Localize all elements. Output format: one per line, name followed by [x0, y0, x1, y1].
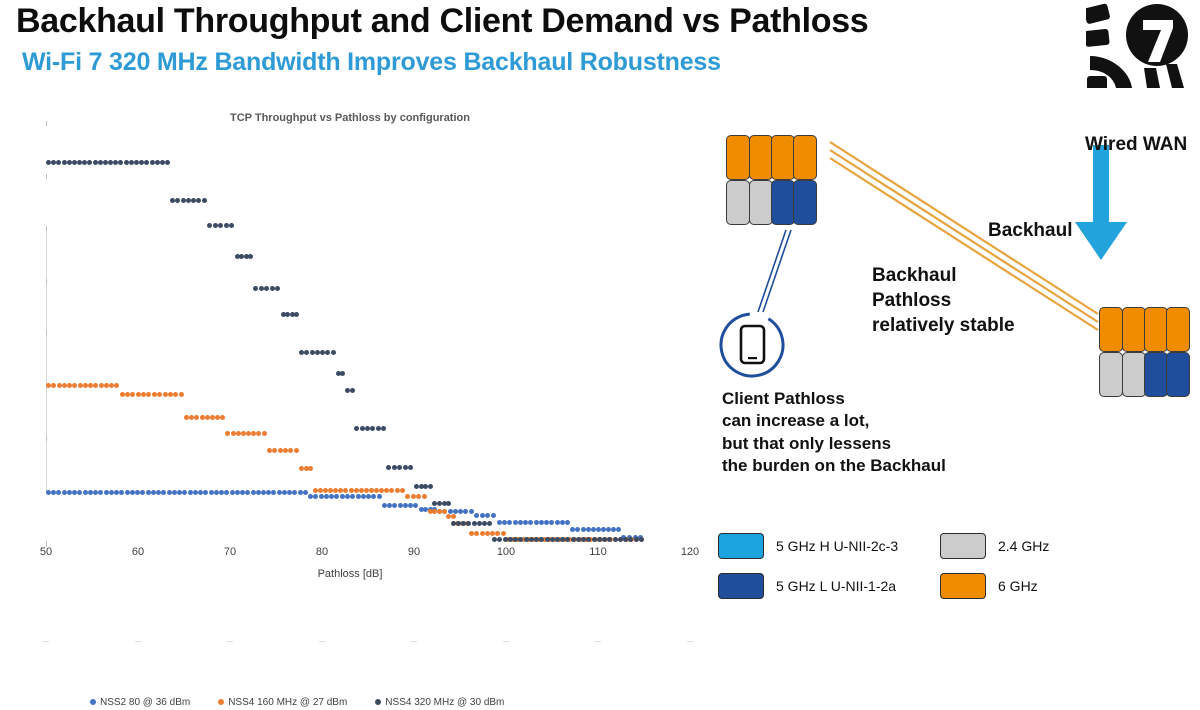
chart-data-point [240, 490, 245, 495]
chart-data-point [172, 490, 177, 495]
chart-data-point [177, 490, 182, 495]
chart-data-point [256, 431, 261, 436]
chart-data-point [141, 392, 146, 397]
chart-data-point [278, 448, 283, 453]
chart-data-point [156, 490, 161, 495]
chart-data-point [472, 521, 477, 526]
band-legend-swatch [940, 533, 986, 559]
band-legend-label: 5 GHz H U-NII-2c-3 [776, 538, 898, 554]
chart-data-point [56, 160, 61, 165]
chart-data-point [490, 531, 495, 536]
chart-data-point [340, 494, 345, 499]
chart-data-point [377, 494, 382, 499]
chart-data-point [480, 513, 485, 518]
chart-data-point [104, 490, 109, 495]
chart-data-point [446, 501, 451, 506]
chart-data-point [267, 448, 272, 453]
chart-data-point [392, 465, 397, 470]
chart-data-point [392, 503, 397, 508]
chart-data-point [72, 383, 77, 388]
router-band-cell [793, 135, 817, 180]
chart-data-point [292, 490, 297, 495]
chart-data-point [528, 520, 533, 525]
chart-data-point [371, 494, 376, 499]
chart-x-tick: 80 [302, 546, 342, 558]
chart-x-tick: 100 [486, 546, 526, 558]
page-header: Backhaul Throughput and Client Demand vs… [0, 0, 1200, 96]
throughput-chart: TCP Throughput vs Pathloss by configurat… [0, 100, 700, 608]
chart-data-point [93, 383, 98, 388]
router-band-cell [771, 180, 795, 225]
chart-data-point [194, 415, 199, 420]
chart-x-tick-mark [227, 641, 233, 642]
chart-x-axis-label: Pathloss [dB] [0, 568, 700, 580]
router-band-cell [749, 135, 773, 180]
router-row [727, 135, 817, 180]
band-legend: 5 GHz H U-NII-2c-32.4 GHz5 GHz L U-NII-1… [718, 533, 1188, 605]
chart-data-point [601, 527, 606, 532]
chart-data-point [308, 494, 313, 499]
chart-data-point [591, 527, 596, 532]
chart-data-point [469, 531, 474, 536]
chart-data-point [109, 490, 114, 495]
chart-data-point [343, 488, 348, 493]
chart-data-point [270, 286, 275, 291]
chart-data-point [218, 223, 223, 228]
chart-data-point [549, 520, 554, 525]
chart-data-point [565, 520, 570, 525]
chart-data-point [168, 392, 173, 397]
chart-data-point [398, 503, 403, 508]
router-band-cell [1122, 307, 1146, 352]
chart-data-point [497, 537, 502, 542]
chart-data-point [62, 383, 67, 388]
label-backhaul-pathloss: Backhaul Pathloss relatively stable [872, 263, 1015, 338]
chart-x-tick: 60 [118, 546, 158, 558]
chart-legend-dot-icon [90, 699, 96, 705]
chart-data-point [130, 490, 135, 495]
chart-data-point [200, 415, 205, 420]
router-band-cell [726, 135, 750, 180]
chart-data-point [283, 448, 288, 453]
band-legend-label: 6 GHz [998, 578, 1038, 594]
chart-data-point [451, 514, 456, 519]
chart-data-point [294, 448, 299, 453]
chart-data-point [165, 160, 170, 165]
chart-data-point [229, 223, 234, 228]
chart-legend-item[interactable]: NSS4 320 MHz @ 30 dBm [375, 697, 504, 708]
chart-data-point [62, 490, 67, 495]
chart-data-point [518, 520, 523, 525]
chart-data-point [513, 520, 518, 525]
router-left [727, 135, 817, 225]
chart-data-point [350, 388, 355, 393]
page-title: Backhaul Throughput and Client Demand vs… [16, 2, 868, 41]
chart-data-point [67, 383, 72, 388]
chart-legend-label: NSS4 320 MHz @ 30 dBm [385, 697, 504, 708]
chart-data-point [98, 490, 103, 495]
chart-x-tick: 120 [670, 546, 710, 558]
chart-data-point [109, 383, 114, 388]
chart-data-point [231, 431, 236, 436]
chart-data-point [408, 465, 413, 470]
router-band-cell [793, 180, 817, 225]
chart-data-point [209, 490, 214, 495]
router-band-cell [1166, 352, 1190, 397]
chart-data-point [360, 426, 365, 431]
chart-data-point [366, 494, 371, 499]
chart-data-point [230, 490, 235, 495]
chart-data-point [56, 490, 61, 495]
chart-data-point [575, 527, 580, 532]
chart-data-point [389, 488, 394, 493]
router-band-cell [726, 180, 750, 225]
router-band-cell [771, 135, 795, 180]
chart-data-point [474, 531, 479, 536]
chart-data-point [634, 537, 639, 542]
mobile-phone-icon [741, 326, 764, 363]
chart-data-point [320, 350, 325, 355]
band-legend-label: 2.4 GHz [998, 538, 1049, 554]
chart-data-point [487, 521, 492, 526]
chart-data-point [463, 509, 468, 514]
router-row [1100, 352, 1190, 397]
router-band-cell [1144, 307, 1168, 352]
chart-data-point [501, 531, 506, 536]
chart-data-point [93, 490, 98, 495]
chart-data-point [264, 286, 269, 291]
chart-legend-dot-icon [218, 699, 224, 705]
chart-data-point [253, 286, 258, 291]
chart-data-point [324, 494, 329, 499]
chart-data-point [495, 531, 500, 536]
chart-data-point [224, 490, 229, 495]
chart-data-point [179, 392, 184, 397]
chart-data-point [356, 494, 361, 499]
chart-data-point [136, 392, 141, 397]
chart-data-point [271, 490, 276, 495]
network-diagram: Wired WAN Backhaul Backhaul Pathloss rel… [690, 100, 1200, 530]
router-band-cell [1122, 352, 1146, 397]
chart-data-point [354, 488, 359, 493]
chart-data-point [466, 521, 471, 526]
chart-data-point [277, 490, 282, 495]
chart-data-point [157, 392, 162, 397]
down-arrow-icon [1075, 145, 1127, 260]
chart-x-tick: 50 [26, 546, 66, 558]
chart-data-point [395, 488, 400, 493]
chart-data-point [236, 431, 241, 436]
router-right [1100, 307, 1190, 397]
chart-x-tick: 110 [578, 546, 618, 558]
chart-data-point [125, 490, 130, 495]
chart-data-point [124, 160, 129, 165]
chart-data-point [88, 490, 93, 495]
chart-data-point [299, 350, 304, 355]
band-legend-item[interactable]: 6 GHz [940, 573, 1038, 599]
chart-data-point [186, 198, 191, 203]
chart-data-point [57, 383, 62, 388]
page-subtitle: Wi-Fi 7 320 MHz Bandwidth Improves Backh… [22, 48, 721, 77]
chart-data-point [99, 383, 104, 388]
chart-data-point [288, 448, 293, 453]
chart-data-point [315, 350, 320, 355]
chart-data-point [161, 490, 166, 495]
chart-data-point [203, 490, 208, 495]
chart-data-point [155, 160, 160, 165]
chart-data-point [51, 383, 56, 388]
chart-data-point [613, 537, 618, 542]
chart-data-point [188, 490, 193, 495]
chart-data-point [413, 503, 418, 508]
chart-data-point [405, 494, 410, 499]
chart-data-point [397, 465, 402, 470]
label-client-pathloss: Client Pathloss can increase a lot, but … [722, 388, 946, 478]
chart-data-point [275, 286, 280, 291]
chart-data-point [167, 490, 172, 495]
chart-data-point [408, 503, 413, 508]
chart-data-point [262, 431, 267, 436]
chart-data-point [125, 392, 130, 397]
band-legend-item[interactable]: 2.4 GHz [940, 533, 1049, 559]
chart-data-point [458, 509, 463, 514]
chart-data-point [365, 426, 370, 431]
chart-data-point [555, 520, 560, 525]
chart-data-point [256, 490, 261, 495]
chart-data-point [88, 383, 93, 388]
chart-data-point [259, 286, 264, 291]
chart-data-point [196, 198, 201, 203]
router-row [1100, 307, 1190, 352]
chart-data-point [442, 509, 447, 514]
chart-data-point [303, 490, 308, 495]
chart-data-point [135, 490, 140, 495]
chart-data-point [266, 490, 271, 495]
chart-data-point [524, 537, 529, 542]
chart-data-point [120, 392, 125, 397]
chart-data-point [331, 350, 336, 355]
chart-data-point [77, 490, 82, 495]
chart-x-tick-mark [411, 641, 417, 642]
chart-data-point [130, 392, 135, 397]
chart-data-point [507, 520, 512, 525]
chart-data-point [175, 198, 180, 203]
chart-data-point [146, 392, 151, 397]
chart-data-point [400, 488, 405, 493]
chart-x-tick: 70 [210, 546, 250, 558]
chart-data-point [354, 426, 359, 431]
chart-data-point [586, 527, 591, 532]
label-wired-wan: Wired WAN [1085, 132, 1187, 157]
chart-data-point [214, 490, 219, 495]
chart-data-point [325, 350, 330, 355]
chart-data-point [191, 198, 196, 203]
chart-data-point [539, 520, 544, 525]
chart-data-point [403, 503, 408, 508]
chart-data-point [67, 160, 72, 165]
band-legend-item[interactable]: 5 GHz H U-NII-2c-3 [718, 533, 898, 559]
chart-data-point [62, 160, 67, 165]
chart-x-tick-mark [135, 641, 141, 642]
chart-data-point [93, 160, 98, 165]
chart-data-point [202, 198, 207, 203]
router-band-cell [1099, 307, 1123, 352]
chart-data-point [310, 350, 315, 355]
chart-data-point [382, 503, 387, 508]
chart-data-point [350, 494, 355, 499]
chart-legend-label: NSS4 160 MHz @ 27 dBm [228, 697, 347, 708]
chart-data-point [83, 490, 88, 495]
chart-data-point [78, 383, 83, 388]
chart-data-point [544, 520, 549, 525]
chart-data-point [477, 521, 482, 526]
chart-data-point [272, 448, 277, 453]
chart-data-point [245, 490, 250, 495]
chart-x-tick: 90 [394, 546, 434, 558]
chart-data-point [308, 466, 313, 471]
chart-data-point [491, 513, 496, 518]
chart-data-point [213, 223, 218, 228]
chart-data-point [198, 490, 203, 495]
chart-x-tick-mark [43, 641, 49, 642]
chart-data-point [361, 494, 366, 499]
chart-data-point [87, 160, 92, 165]
chart-data-point [345, 494, 350, 499]
chart-data-point [319, 494, 324, 499]
chart-x-tick-mark [595, 641, 601, 642]
chart-data-point [386, 465, 391, 470]
chart-data-point [224, 223, 229, 228]
chart-data-point [534, 520, 539, 525]
chart-data-point [298, 490, 303, 495]
chart-data-point [334, 494, 339, 499]
chart-data-point [119, 490, 124, 495]
chart-x-tick-mark [503, 641, 509, 642]
chart-data-point [207, 223, 212, 228]
chart-data-point [170, 198, 175, 203]
band-legend-label: 5 GHz L U-NII-1-2a [776, 578, 896, 594]
chart-data-point [181, 198, 186, 203]
band-legend-swatch [718, 573, 764, 599]
chart-data-point [480, 531, 485, 536]
chart-data-point [173, 392, 178, 397]
chart-data-point [294, 312, 299, 317]
chart-data-point [485, 531, 490, 536]
chart-data-point [251, 490, 256, 495]
chart-data-point [376, 426, 381, 431]
chart-data-point [545, 537, 550, 542]
router-band-cell [749, 180, 773, 225]
chart-data-point [313, 494, 318, 499]
chart-data-point [416, 494, 421, 499]
chart-data-point [370, 426, 375, 431]
chart-data-point [182, 490, 187, 495]
chart-data-point [381, 426, 386, 431]
chart-data-point [225, 431, 230, 436]
chart-data-point [304, 350, 309, 355]
chart-data-point [422, 494, 427, 499]
label-backhaul: Backhaul [988, 218, 1072, 243]
chart-data-point [387, 503, 392, 508]
router-band-cell [1166, 307, 1190, 352]
chart-x-tick-mark [319, 641, 325, 642]
chart-data-point [220, 415, 225, 420]
chart-data-point [67, 490, 72, 495]
chart-data-point [448, 509, 453, 514]
band-legend-swatch [718, 533, 764, 559]
chart-data-point [248, 254, 253, 259]
chart-plot-area [46, 123, 690, 543]
band-legend-swatch [940, 573, 986, 599]
chart-legend-label: NSS2 80 @ 36 dBm [100, 697, 190, 708]
chart-data-point [581, 527, 586, 532]
chart-data-point [205, 415, 210, 420]
chart-data-point [469, 509, 474, 514]
chart-data-point [114, 383, 119, 388]
chart-data-point [411, 494, 416, 499]
router-row [727, 180, 817, 225]
chart-data-point [596, 527, 601, 532]
chart-data-point [104, 383, 109, 388]
chart-series-legend: NSS2 80 @ 36 dBmNSS4 160 MHz @ 27 dBmNSS… [90, 694, 650, 710]
chart-data-point [403, 465, 408, 470]
chart-data-point [118, 160, 123, 165]
chart-data-point [150, 160, 155, 165]
chart-data-point [497, 520, 502, 525]
chart-data-point [349, 488, 354, 493]
chart-data-point [616, 527, 621, 532]
chart-x-tick-mark [687, 641, 693, 642]
chart-data-point [144, 160, 149, 165]
chart-data-point [46, 383, 51, 388]
chart-data-point [639, 537, 644, 542]
router-band-cell [1144, 352, 1168, 397]
chart-data-point [163, 392, 168, 397]
chart-data-point [329, 494, 334, 499]
chart-data-point [453, 509, 458, 514]
chart-data-point [140, 490, 145, 495]
chart-data-point [146, 490, 151, 495]
chart-data-point [502, 520, 507, 525]
chart-data-point [474, 513, 479, 518]
chart-data-point [282, 490, 287, 495]
chart-data-point [51, 490, 56, 495]
band-legend-item[interactable]: 5 GHz L U-NII-1-2a [718, 573, 896, 599]
chart-data-point [152, 392, 157, 397]
chart-data-point [340, 371, 345, 376]
wifi-7-logo-icon [1086, 2, 1192, 90]
chart-data-point [83, 383, 88, 388]
chart-data-point [485, 513, 490, 518]
router-band-cell [1099, 352, 1123, 397]
chart-legend-item[interactable]: NSS4 160 MHz @ 27 dBm [218, 697, 347, 708]
chart-legend-item[interactable]: NSS2 80 @ 36 dBm [90, 697, 190, 708]
chart-data-point [523, 520, 528, 525]
chart-data-point [560, 520, 565, 525]
chart-data-point [428, 484, 433, 489]
chart-legend-dot-icon [375, 699, 381, 705]
